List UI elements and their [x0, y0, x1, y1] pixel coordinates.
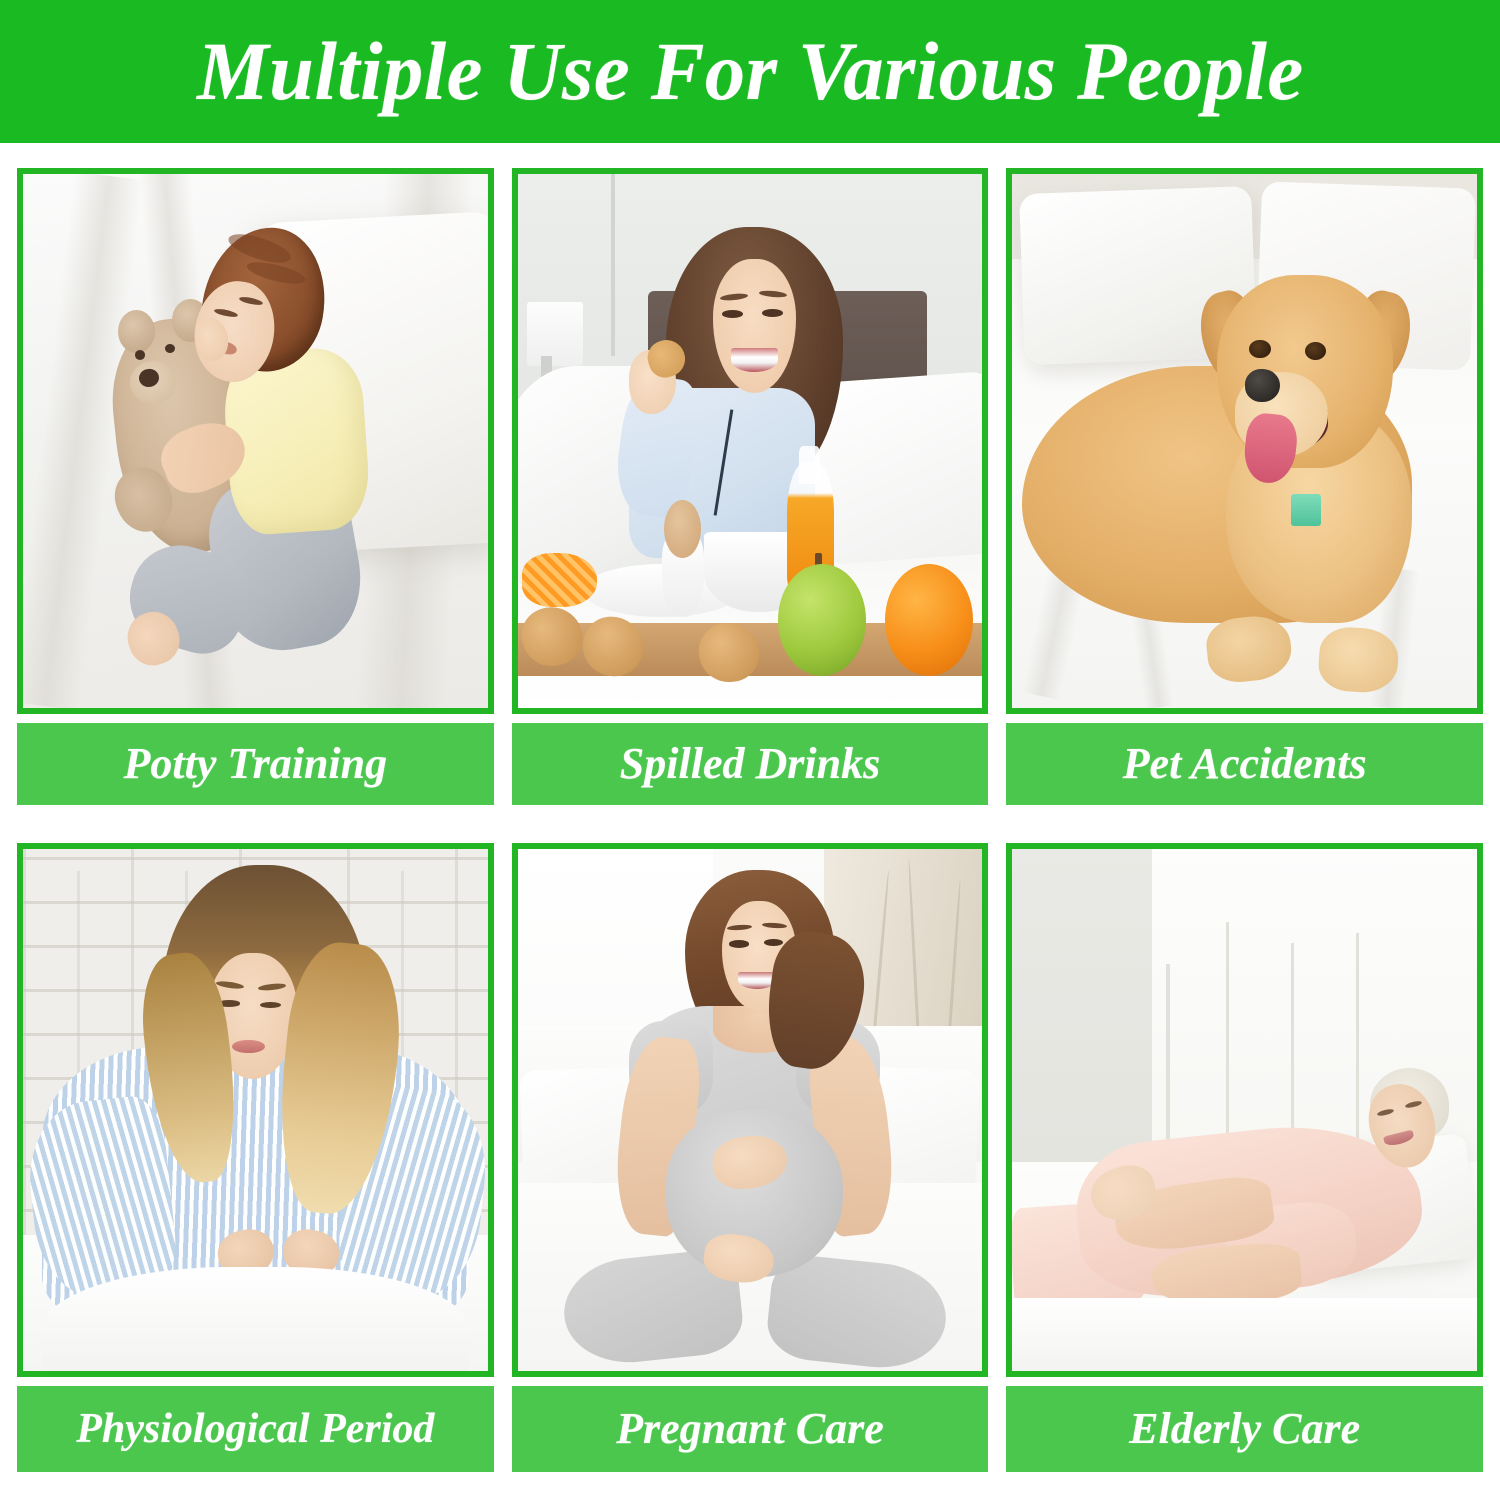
label-bar-pregnant-care: Pregnant Care	[512, 1386, 989, 1472]
photo-pregnant-woman-on-bed	[518, 849, 983, 1371]
use-case-label: Elderly Care	[1129, 1407, 1360, 1451]
header-banner: Multiple Use For Various People	[0, 0, 1500, 143]
use-case-label: Physiological Period	[76, 1408, 434, 1450]
use-case-card-pregnant-care[interactable]: Pregnant Care	[512, 843, 989, 1472]
infographic-page: Multiple Use For Various People	[0, 0, 1500, 1500]
use-case-grid: Potty Training	[17, 168, 1483, 1474]
label-bar-spilled-drinks: Spilled Drinks	[512, 723, 989, 805]
photo-frame-potty-training	[17, 168, 494, 714]
photo-woman-breakfast-in-bed	[518, 174, 983, 708]
use-case-card-spilled-drinks[interactable]: Spilled Drinks	[512, 168, 989, 805]
photo-woman-stomach-cramps	[23, 849, 488, 1371]
use-case-card-physiological-period[interactable]: Physiological Period	[17, 843, 494, 1472]
label-bar-physiological-period: Physiological Period	[17, 1386, 494, 1472]
use-case-label: Pet Accidents	[1123, 742, 1367, 786]
page-title: Multiple Use For Various People	[197, 30, 1303, 113]
use-case-label: Spilled Drinks	[620, 742, 880, 786]
use-case-card-elderly-care[interactable]: Elderly Care	[1006, 843, 1483, 1472]
photo-frame-spilled-drinks	[512, 168, 989, 714]
photo-elderly-woman-in-bed	[1012, 849, 1477, 1371]
photo-frame-pet-accidents	[1006, 168, 1483, 714]
label-bar-pet-accidents: Pet Accidents	[1006, 723, 1483, 805]
photo-golden-dog-on-bed	[1012, 174, 1477, 708]
label-bar-elderly-care: Elderly Care	[1006, 1386, 1483, 1472]
use-case-card-pet-accidents[interactable]: Pet Accidents	[1006, 168, 1483, 805]
photo-frame-elderly-care	[1006, 843, 1483, 1377]
use-case-label: Pregnant Care	[616, 1407, 884, 1451]
use-case-card-potty-training[interactable]: Potty Training	[17, 168, 494, 805]
use-case-label: Potty Training	[124, 742, 388, 786]
label-bar-potty-training: Potty Training	[17, 723, 494, 805]
photo-sleeping-boy-teddy-bear	[23, 174, 488, 708]
photo-frame-physiological-period	[17, 843, 494, 1377]
photo-frame-pregnant-care	[512, 843, 989, 1377]
